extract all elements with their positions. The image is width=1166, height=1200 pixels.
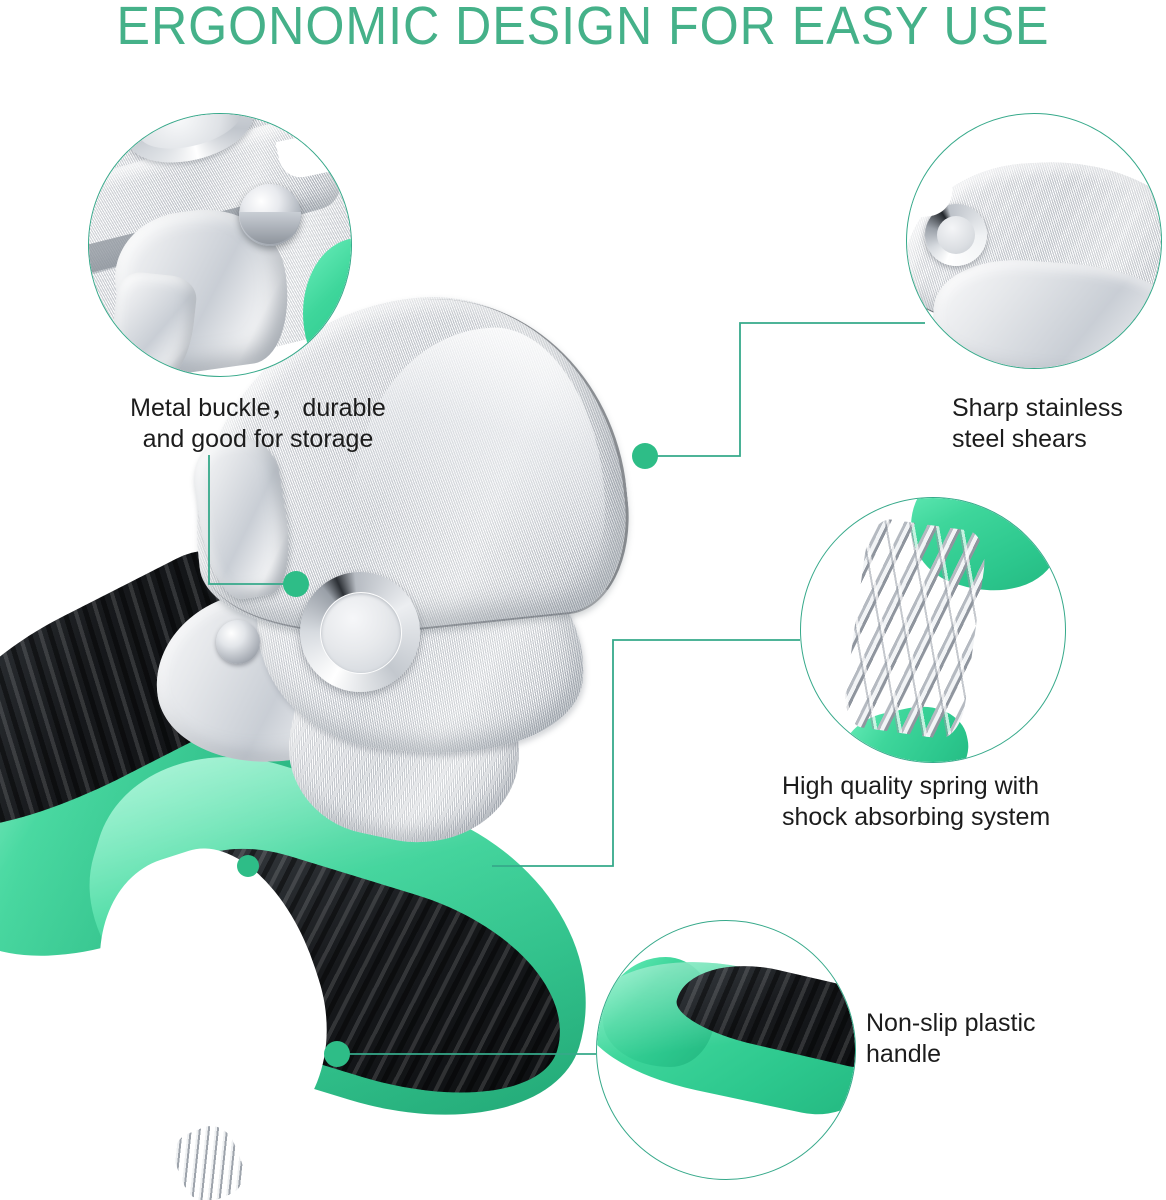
pivot-bolt-inner bbox=[320, 592, 402, 674]
marker-dot-spring bbox=[237, 855, 259, 877]
page-title: ERGONOMIC DESIGN FOR EASY USE bbox=[41, 0, 1125, 54]
caption-sharp-shears: Sharp stainless steel shears bbox=[952, 393, 1166, 455]
callout-circle-sharp-shears bbox=[906, 113, 1162, 369]
caption-quality-spring: High quality spring with shock absorbing… bbox=[782, 771, 1082, 833]
callout-circle-spring bbox=[800, 497, 1066, 763]
marker-dot-handle bbox=[324, 1041, 350, 1067]
callout-circle-metal-buckle bbox=[88, 113, 352, 377]
callout-circle-handle bbox=[596, 920, 856, 1180]
marker-dot-metal-buckle bbox=[283, 571, 309, 597]
marker-dot-sharp-shears bbox=[632, 443, 658, 469]
infographic-canvas: ERGONOMIC DESIGN FOR EASY USE bbox=[0, 0, 1166, 1200]
caption-metal-buckle: Metal buckle， durable and good for stora… bbox=[93, 393, 423, 455]
buckle-rivet bbox=[216, 620, 260, 664]
caption-nonslip-handle: Non-slip plastic handle bbox=[866, 1008, 1106, 1070]
